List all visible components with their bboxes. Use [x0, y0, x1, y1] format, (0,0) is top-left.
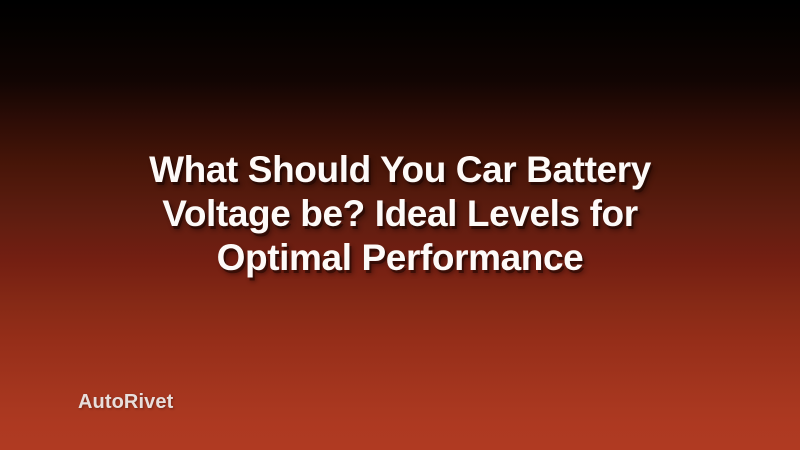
headline-block: What Should You Car Battery Voltage be? …: [0, 148, 800, 280]
headline-line-2: Voltage be? Ideal Levels for: [56, 192, 744, 236]
article-hero-banner: What Should You Car Battery Voltage be? …: [0, 0, 800, 450]
headline-line-3: Optimal Performance: [56, 236, 744, 280]
headline-line-1: What Should You Car Battery: [56, 148, 744, 192]
page-title: What Should You Car Battery Voltage be? …: [56, 148, 744, 280]
brand-name: AutoRivet: [78, 390, 173, 414]
